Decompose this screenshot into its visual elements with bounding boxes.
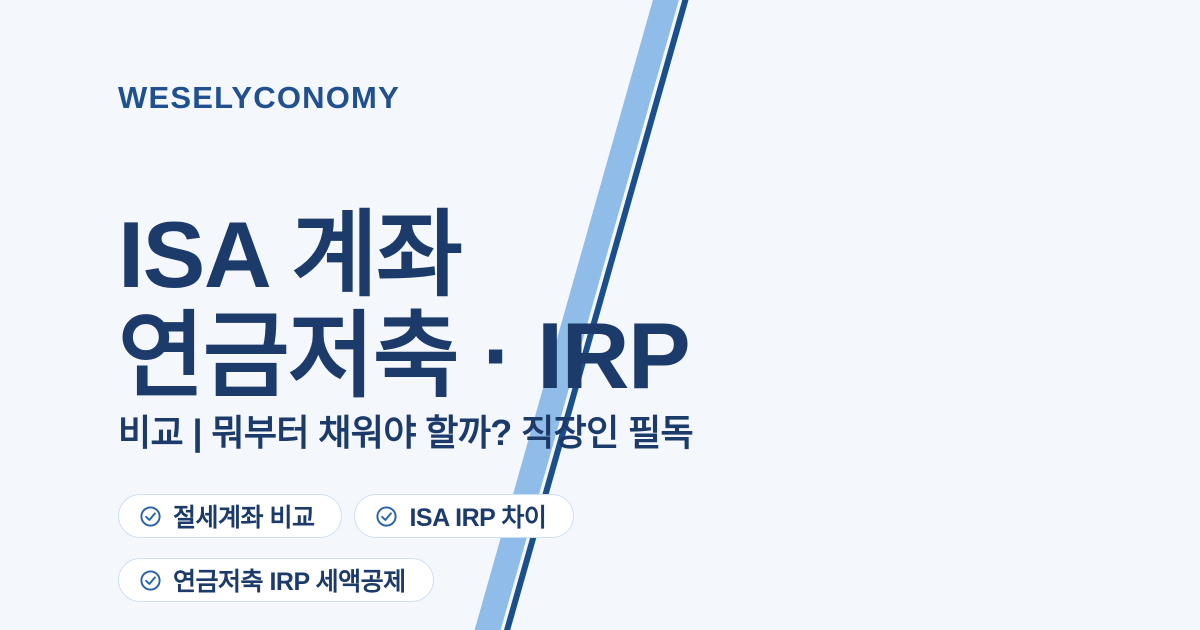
- keyword-chip-label: 절세계좌 비교: [173, 498, 314, 534]
- keyword-chip-list: 절세계좌 비교 ISA IRP 차이: [118, 494, 978, 622]
- chip-row: 연금저축 IRP 세액공제: [118, 558, 978, 602]
- keyword-chip-label: 연금저축 IRP 세액공제: [173, 562, 406, 598]
- keyword-chip[interactable]: 연금저축 IRP 세액공제: [118, 558, 434, 602]
- check-circle-icon: [375, 505, 398, 528]
- check-circle-icon: [139, 505, 162, 528]
- subtitle: 비교 | 뭐부터 채워야 할까? 직장인 필독: [118, 404, 693, 456]
- keyword-chip-label: ISA IRP 차이: [409, 498, 546, 534]
- page-title: ISA 계좌 연금저축 · IRP: [118, 205, 838, 406]
- promo-banner: WESELYCONOMY ISA 계좌 연금저축 · IRP 비교 | 뭐부터 …: [0, 0, 1200, 630]
- banner-content: WESELYCONOMY ISA 계좌 연금저축 · IRP 비교 | 뭐부터 …: [118, 0, 1118, 630]
- headline-line-1: ISA 계좌: [118, 205, 838, 306]
- brand-logo: WESELYCONOMY: [118, 80, 400, 116]
- check-circle-icon: [139, 569, 162, 592]
- headline-line-2: 연금저축 · IRP: [118, 306, 838, 407]
- chip-row: 절세계좌 비교 ISA IRP 차이: [118, 494, 978, 538]
- keyword-chip[interactable]: 절세계좌 비교: [118, 494, 342, 538]
- keyword-chip[interactable]: ISA IRP 차이: [354, 494, 574, 538]
